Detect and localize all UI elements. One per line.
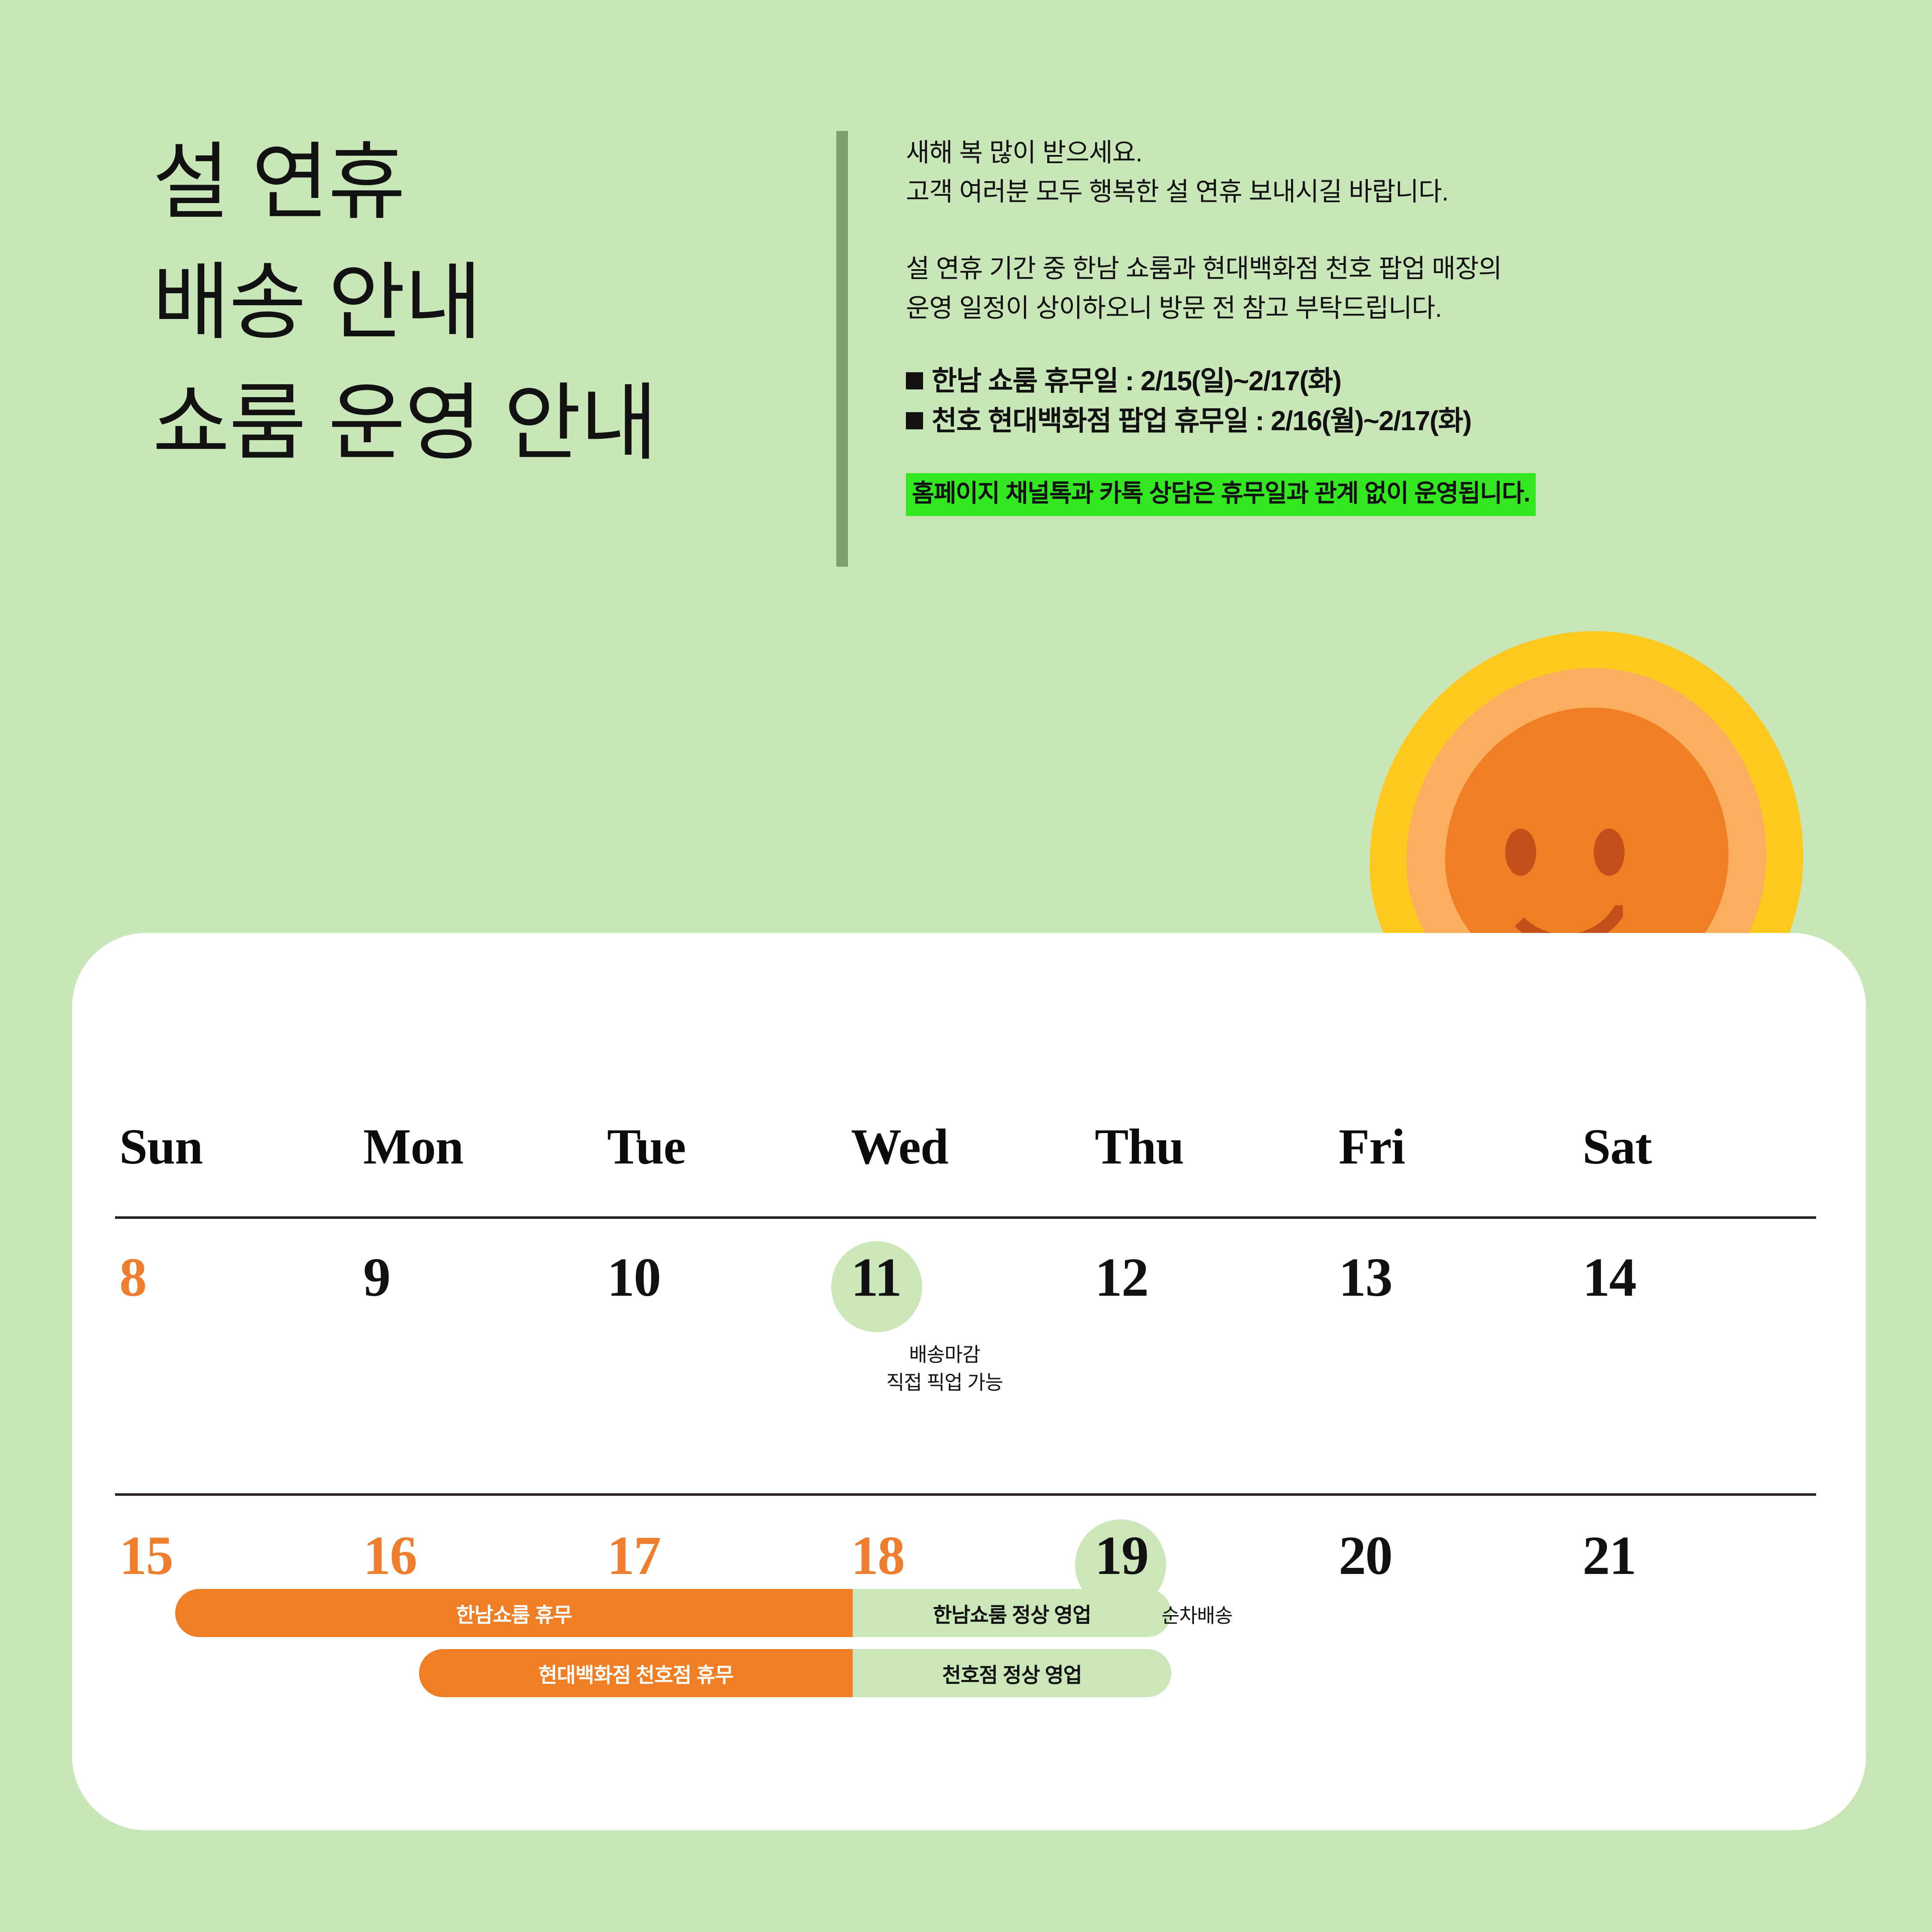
mascot-left-eye-icon [1505,829,1536,876]
bullet-label-hannam: 한남 쇼룸 휴무일 : 2/15(일)~2/17(화) [932,365,1341,398]
event-segment-cheonho-open: 천호점 정상 영업 [853,1649,1171,1697]
bullet-list: 한남 쇼룸 휴무일 : 2/15(일)~2/17(화) 천호 현대백화점 팝업 … [906,365,1838,437]
bullet-label-cheonho: 천호 현대백화점 팝업 휴무일 : 2/16(월)~2/17(화) [932,404,1471,437]
weekday-fri: Fri [1334,1118,1578,1176]
calendar-day-10[interactable]: 10 [603,1233,847,1491]
event-segment-cheonho-closed: 현대백화점 천호점 휴무 [419,1649,853,1697]
day-number: 17 [603,1512,847,1583]
day-number: 10 [603,1233,847,1305]
day-number: 15 [115,1512,359,1583]
square-bullet-icon [906,412,923,429]
day-11-note-line-2: 직접 픽업 가능 [823,1369,1066,1397]
calendar-day-14[interactable]: 14 [1578,1233,1822,1491]
calendar-divider-middle [115,1493,1816,1496]
calendar-event-bars: 한남쇼룸 휴무 한남쇼룸 정상 영업 현대백화점 천호점 휴무 천호점 정상 영… [115,1589,1823,1718]
notice-line-2: 운영 일정이 상이하오니 방문 전 참고 부탁드립니다. [906,289,1838,328]
calendar-day-13[interactable]: 13 [1334,1233,1578,1491]
calendar-day-8[interactable]: 8 [115,1233,359,1491]
calendar-day-12[interactable]: 12 [1091,1233,1334,1491]
day-number: 14 [1578,1233,1822,1305]
weekday-mon: Mon [359,1118,603,1176]
mascot-right-eye-icon [1594,829,1625,876]
calendar-week-row: 8 9 10 11 배송마감 직접 픽업 가능 [115,1233,1823,1491]
notice-line-1: 설 연휴 기간 중 한남 쇼룸과 현대백화점 천호 팝업 매장의 [906,249,1838,288]
day-number: 12 [1091,1233,1334,1305]
weekday-sat: Sat [1578,1118,1822,1176]
day-11-note-line-1: 배송마감 [823,1341,1066,1369]
page-title: 설 연휴 배송 안내 쇼룸 운영 안내 [152,122,822,483]
info-block: 새해 복 많이 받으세요. 고객 여러분 모두 행복한 설 연휴 보내시길 바랍… [906,133,1838,516]
day-number: 13 [1334,1233,1578,1305]
weekday-thu: Thu [1091,1118,1334,1176]
calendar-card: Sun Mon Tue Wed Thu Fri Sat 8 9 10 [72,933,1866,1830]
title-line-2: 배송 안내 [152,243,822,363]
square-bullet-icon [906,372,923,389]
event-bar-hannam[interactable]: 한남쇼룸 휴무 한남쇼룸 정상 영업 [175,1589,1171,1637]
day-number: 8 [115,1233,359,1305]
bullet-item-cheonho: 천호 현대백화점 팝업 휴무일 : 2/16(월)~2/17(화) [906,404,1838,437]
weekday-tue: Tue [603,1118,847,1176]
title-line-1: 설 연휴 [152,122,822,243]
greeting-line-2: 고객 여러분 모두 행복한 설 연휴 보내시길 바랍니다. [906,172,1838,211]
day-number: 9 [359,1233,603,1305]
day-number: 20 [1334,1512,1578,1583]
poster-root: 설 연휴 배송 안내 쇼룸 운영 안내 새해 복 많이 받으세요. 고객 여러분… [0,0,1932,1932]
highlight-wrap: 홈페이지 채널톡과 카톡 상담은 휴무일과 관계 없이 운영됩니다. [906,473,1838,516]
weekday-sun: Sun [115,1118,359,1176]
title-line-3: 쇼룸 운영 안내 [152,363,822,483]
day-number: 19 [1091,1512,1334,1583]
day-number: 18 [847,1512,1091,1583]
day-number: 21 [1578,1512,1822,1583]
day-number: 11 [847,1233,1091,1305]
calendar-day-11[interactable]: 11 배송마감 직접 픽업 가능 [847,1233,1091,1491]
paragraph-gap [906,211,1838,249]
greeting-line-1: 새해 복 많이 받으세요. [906,133,1838,172]
day-number: 16 [359,1512,603,1583]
vertical-divider [836,131,848,567]
bullet-item-hannam: 한남 쇼룸 휴무일 : 2/15(일)~2/17(화) [906,365,1838,398]
weekday-wed: Wed [847,1118,1091,1176]
event-segment-hannam-closed: 한남쇼룸 휴무 [175,1589,853,1637]
event-bar-cheonho[interactable]: 현대백화점 천호점 휴무 천호점 정상 영업 [419,1649,1171,1697]
day-19-note: 순차배송 [1075,1602,1319,1630]
day-11-note: 배송마감 직접 픽업 가능 [823,1341,1066,1397]
calendar-divider-top [115,1216,1816,1219]
calendar-weekday-header: Sun Mon Tue Wed Thu Fri Sat [115,1118,1823,1176]
calendar-day-9[interactable]: 9 [359,1233,603,1491]
calendar: Sun Mon Tue Wed Thu Fri Sat 8 9 10 [115,933,1823,1830]
highlight-banner: 홈페이지 채널톡과 카톡 상담은 휴무일과 관계 없이 운영됩니다. [906,473,1536,516]
